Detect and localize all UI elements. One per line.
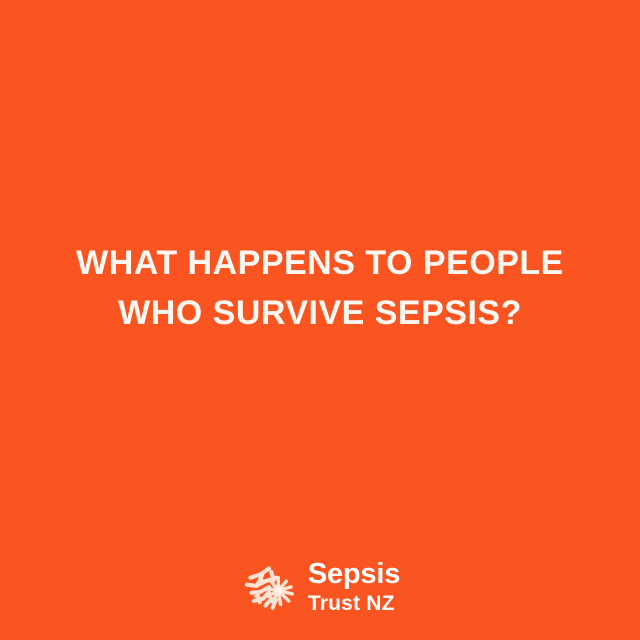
page-title: WHAT HAPPENS TO PEOPLE WHO SURVIVE SEPSI… (0, 238, 640, 338)
sepsis-pathogen-starburst-icon (240, 558, 298, 616)
poster-canvas: WHAT HAPPENS TO PEOPLE WHO SURVIVE SEPSI… (0, 0, 640, 640)
headline-line-2: WHO SURVIVE SEPSIS? (0, 288, 640, 338)
logo-secondary-text: Trust NZ (308, 593, 395, 614)
logo-lockup: Sepsis Trust NZ (0, 558, 640, 616)
headline-line-1: WHAT HAPPENS TO PEOPLE (0, 238, 640, 288)
logo-primary-text: Sepsis (308, 560, 400, 589)
logo-wordmark: Sepsis Trust NZ (308, 560, 400, 614)
